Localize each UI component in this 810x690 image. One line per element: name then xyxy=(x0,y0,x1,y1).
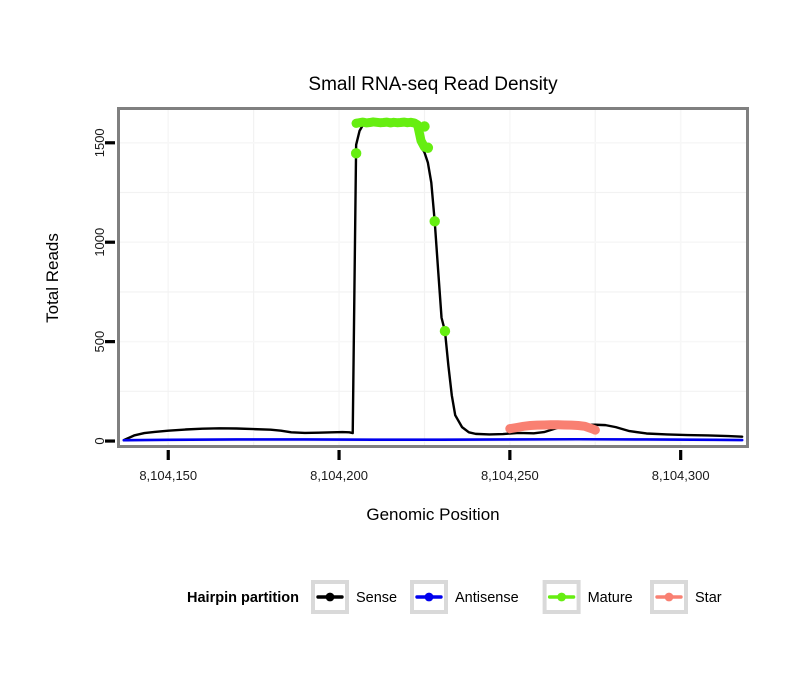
series-line-antisense xyxy=(124,439,742,440)
plot-panel-background xyxy=(117,107,749,448)
legend-key-dot-antisense xyxy=(425,593,434,602)
x-tick-label: 8,104,200 xyxy=(310,468,368,483)
legend-key-dot-sense xyxy=(326,593,335,602)
series-marker-mature xyxy=(440,326,450,336)
chart-legend: Hairpin partitionSenseAntisenseMatureSta… xyxy=(187,582,722,612)
chart-container: Small RNA-seq Read Density 8,104,1508,10… xyxy=(0,0,810,690)
chart-title: Small RNA-seq Read Density xyxy=(308,74,558,95)
y-axis-title: Total Reads xyxy=(43,233,62,323)
y-tick-label: 1000 xyxy=(92,228,107,257)
legend-label-antisense[interactable]: Antisense xyxy=(455,590,519,606)
read-density-chart: Small RNA-seq Read Density 8,104,1508,10… xyxy=(0,0,810,690)
legend-title: Hairpin partition xyxy=(187,590,299,606)
y-tick-label: 500 xyxy=(92,331,107,353)
series-marker-mature xyxy=(430,216,440,226)
series-marker-mature xyxy=(423,143,433,153)
legend-label-mature[interactable]: Mature xyxy=(588,590,633,606)
x-tick-label: 8,104,250 xyxy=(481,468,539,483)
series-endpoint-star xyxy=(505,424,514,433)
x-axis-title: Genomic Position xyxy=(366,505,499,524)
legend-key-dot-mature xyxy=(557,593,566,602)
y-tick-label: 0 xyxy=(92,437,107,444)
series-marker-mature xyxy=(419,121,429,131)
series-marker-mature xyxy=(351,148,361,158)
series-endpoint-mature xyxy=(352,119,361,128)
legend-label-sense[interactable]: Sense xyxy=(356,590,397,606)
y-tick-label: 1500 xyxy=(92,128,107,157)
series-endpoint-star xyxy=(591,426,600,435)
legend-key-dot-star xyxy=(665,593,674,602)
x-tick-label: 8,104,150 xyxy=(139,468,197,483)
legend-label-star[interactable]: Star xyxy=(695,590,722,606)
x-tick-label: 8,104,300 xyxy=(652,468,710,483)
